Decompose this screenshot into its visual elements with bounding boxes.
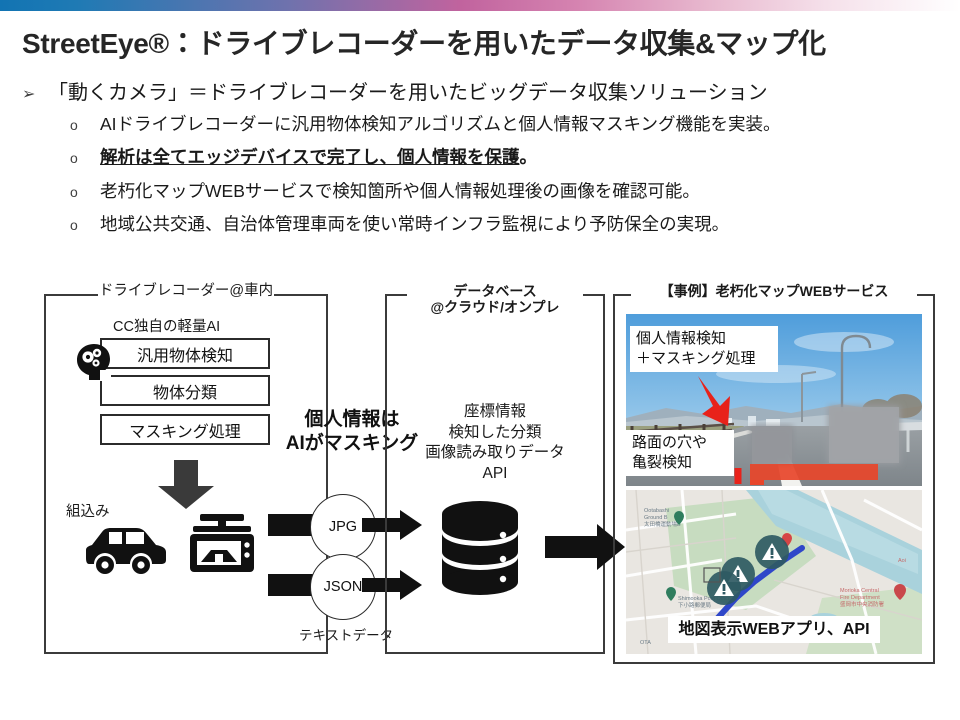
bullet-text-underlined: 解析は全てエッジデバイスで完了し、個人情報を保護 bbox=[100, 147, 519, 167]
panel-title-database: データベース @クラウド/オンプレ bbox=[385, 283, 605, 315]
panel-title-database-line2: @クラウド/オンプレ bbox=[385, 299, 605, 315]
panel-edge-left bbox=[385, 294, 387, 654]
database-contents: 座標情報 検知した分類 画像読み取りデータ API bbox=[400, 402, 590, 484]
panel-edge-right bbox=[933, 294, 935, 664]
db-content-classes: 検知した分類 bbox=[400, 423, 590, 444]
text-data-label: テキストデータ bbox=[299, 624, 393, 644]
svg-text:Ground B: Ground B bbox=[644, 515, 668, 521]
svg-text:盛岡市中央消防署: 盛岡市中央消防署 bbox=[840, 600, 885, 608]
db-content-api: API bbox=[400, 464, 590, 485]
bullet-marker-circle-icon: o bbox=[70, 147, 100, 170]
db-content-coords: 座標情報 bbox=[400, 402, 590, 423]
db-content-image-data: 画像読み取りデータ bbox=[400, 443, 590, 464]
panel-edge-bottom bbox=[385, 652, 605, 654]
callout-masking-line2: ＋マスキング処理 bbox=[636, 349, 772, 369]
panel-edge-bottom bbox=[613, 662, 935, 664]
svg-text:下小路郵便局: 下小路郵便局 bbox=[678, 601, 711, 609]
svg-text:OTA: OTA bbox=[640, 640, 651, 646]
panel-title-drive-recorder: ドライブレコーダー@車内 bbox=[44, 283, 328, 300]
bullet-text: 地域公共交通、自治体管理車両を使い常時インフラ監視により予防保全の実現。 bbox=[100, 210, 729, 238]
bullet-text: AIドライブレコーダーに汎用物体検知アルゴリズムと個人情報マスキング機能を実装。 bbox=[100, 110, 780, 138]
down-arrow-icon bbox=[156, 460, 216, 510]
bullet-marker-circle-icon: o bbox=[70, 181, 100, 204]
bullet-marker-arrow-icon: ➢ bbox=[22, 84, 48, 104]
svg-text:Morioka Central: Morioka Central bbox=[840, 588, 879, 594]
slide-root: StreetEye®：ドライブレコーダーを用いたデータ収集&マップ化 ➢ 「動く… bbox=[0, 0, 960, 720]
architecture-diagram: ドライブレコーダー@車内 CC独自の軽量AI 汎用物体検知 物体分類 マスキング… bbox=[0, 282, 960, 682]
brain-gears-icon bbox=[74, 340, 114, 382]
panel-edge-left bbox=[613, 294, 615, 664]
bullet-marker-circle-icon: o bbox=[70, 114, 100, 137]
panel-edge-left bbox=[44, 294, 46, 654]
bullet-level2-emphasis: o 解析は全てエッジデバイスで完了し、個人情報を保護。 bbox=[70, 143, 942, 171]
accent-gradient-bar bbox=[0, 0, 960, 11]
ai-box-masking: マスキング処理 bbox=[100, 414, 270, 445]
bullet-text: 解析は全てエッジデバイスで完了し、個人情報を保護。 bbox=[100, 143, 537, 171]
ai-engine-caption: CC独自の軽量AI bbox=[113, 315, 220, 336]
svg-text:Ootabashi: Ootabashi bbox=[644, 508, 669, 514]
panel-title-web-service: 【事例】老朽化マップWEBサービス bbox=[613, 283, 935, 299]
callout-map-webapp: 地図表示WEBアプリ、API bbox=[668, 616, 880, 643]
page-title: StreetEye®：ドライブレコーダーを用いたデータ収集&マップ化 bbox=[22, 22, 932, 62]
svg-text:Fire Department: Fire Department bbox=[840, 595, 880, 601]
ai-box-object-detection: 汎用物体検知 bbox=[100, 338, 270, 369]
panel-edge-right bbox=[603, 294, 605, 654]
embedded-label: 組込み bbox=[66, 500, 110, 521]
ai-box-object-classification: 物体分類 bbox=[100, 375, 270, 406]
bullet-level2: o 地域公共交通、自治体管理車両を使い常時インフラ監視により予防保全の実現。 bbox=[70, 210, 942, 238]
bullet-text: 「動くカメラ」＝ドライブレコーダーを用いたビッグデータ収集ソリューション bbox=[48, 76, 768, 105]
panel-title-database-line1: データベース bbox=[385, 283, 605, 299]
svg-text:Aoi: Aoi bbox=[898, 558, 906, 564]
bullet-level2: o AIドライブレコーダーに汎用物体検知アルゴリズムと個人情報マスキング機能を実… bbox=[70, 110, 942, 138]
bullet-text-suffix: 。 bbox=[519, 147, 537, 167]
callout-road-line1: 路面の穴や bbox=[632, 433, 728, 453]
bullet-list: ➢ 「動くカメラ」＝ドライブレコーダーを用いたビッグデータ収集ソリューション o… bbox=[22, 76, 942, 243]
bullet-level2: o 老朽化マップWEBサービスで検知箇所や個人情報処理後の画像を確認可能。 bbox=[70, 177, 942, 205]
callout-masking-line1: 個人情報検知 bbox=[636, 329, 772, 349]
database-cylinder-icon bbox=[440, 500, 520, 596]
car-icon bbox=[78, 524, 170, 578]
bullet-marker-circle-icon: o bbox=[70, 214, 100, 237]
bullet-text: 老朽化マップWEBサービスで検知箇所や個人情報処理後の画像を確認可能。 bbox=[100, 177, 700, 205]
dashcam-icon bbox=[184, 514, 260, 576]
callout-masking: 個人情報検知 ＋マスキング処理 bbox=[630, 326, 778, 372]
bullet-level1: ➢ 「動くカメラ」＝ドライブレコーダーを用いたビッグデータ収集ソリューション bbox=[22, 76, 942, 105]
panel-edge-bottom bbox=[44, 652, 328, 654]
callout-road-line2: 亀裂検知 bbox=[632, 453, 728, 473]
svg-text:太田橋運動場B: 太田橋運動場B bbox=[644, 520, 681, 528]
red-arrow-to-mask-icon bbox=[694, 374, 750, 432]
